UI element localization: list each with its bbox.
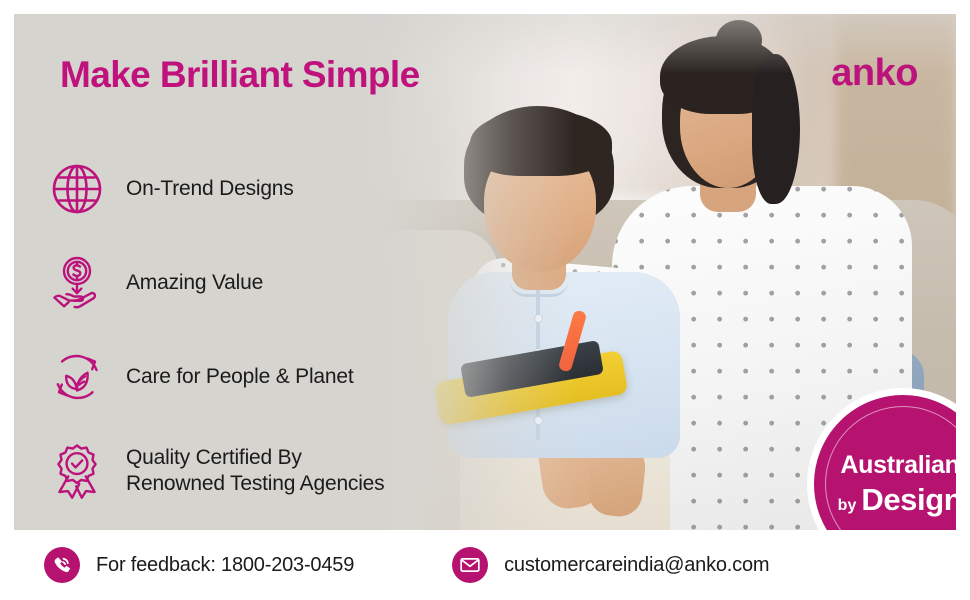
feature-label-line1: Quality Certified By	[126, 446, 302, 469]
page-title: Make Brilliant Simple	[60, 54, 420, 96]
feature-item-quality-certified: Quality Certified By Renowned Testing Ag…	[46, 424, 466, 518]
photo-woman-hair-side	[752, 54, 800, 204]
badge-line-by-design: by Design	[838, 482, 956, 518]
globe-icon	[46, 158, 108, 220]
contact-phone-text: For feedback: 1800-203-0459	[96, 554, 354, 577]
contact-email[interactable]: customercareindia@anko.com	[452, 547, 769, 583]
feature-label: Quality Certified By Renowned Testing Ag…	[126, 445, 384, 496]
award-rosette-icon	[46, 440, 108, 502]
contact-email-text: customercareindia@anko.com	[504, 554, 769, 577]
anko-logo: anko	[831, 52, 918, 95]
badge-line-australian: Australian	[840, 451, 956, 480]
badge-by-text: by	[838, 497, 857, 515]
eco-leaf-recycle-icon	[46, 346, 108, 408]
feature-label: On-Trend Designs	[126, 176, 294, 202]
feature-label: Care for People & Planet	[126, 364, 354, 390]
contact-footer: For feedback: 1800-203-0459 customercare…	[0, 530, 970, 600]
feature-label-line2: Renowned Testing Agencies	[126, 472, 384, 495]
feature-item-care-for-people-and-planet: Care for People & Planet	[46, 330, 466, 424]
feature-label: Amazing Value	[126, 270, 263, 296]
phone-icon	[44, 547, 80, 583]
feature-item-amazing-value: Amazing Value	[46, 236, 466, 330]
feature-item-on-trend-designs: On-Trend Designs	[46, 142, 466, 236]
envelope-icon	[452, 547, 488, 583]
main-panel: Make Brilliant Simple anko On-Trend Desi…	[14, 14, 956, 530]
anko-promo-banner: Make Brilliant Simple anko On-Trend Desi…	[0, 0, 970, 600]
badge-design-text: Design	[861, 482, 956, 518]
contact-phone[interactable]: For feedback: 1800-203-0459	[44, 547, 354, 583]
money-hand-icon	[46, 252, 108, 314]
feature-list: On-Trend Designs	[46, 142, 466, 518]
